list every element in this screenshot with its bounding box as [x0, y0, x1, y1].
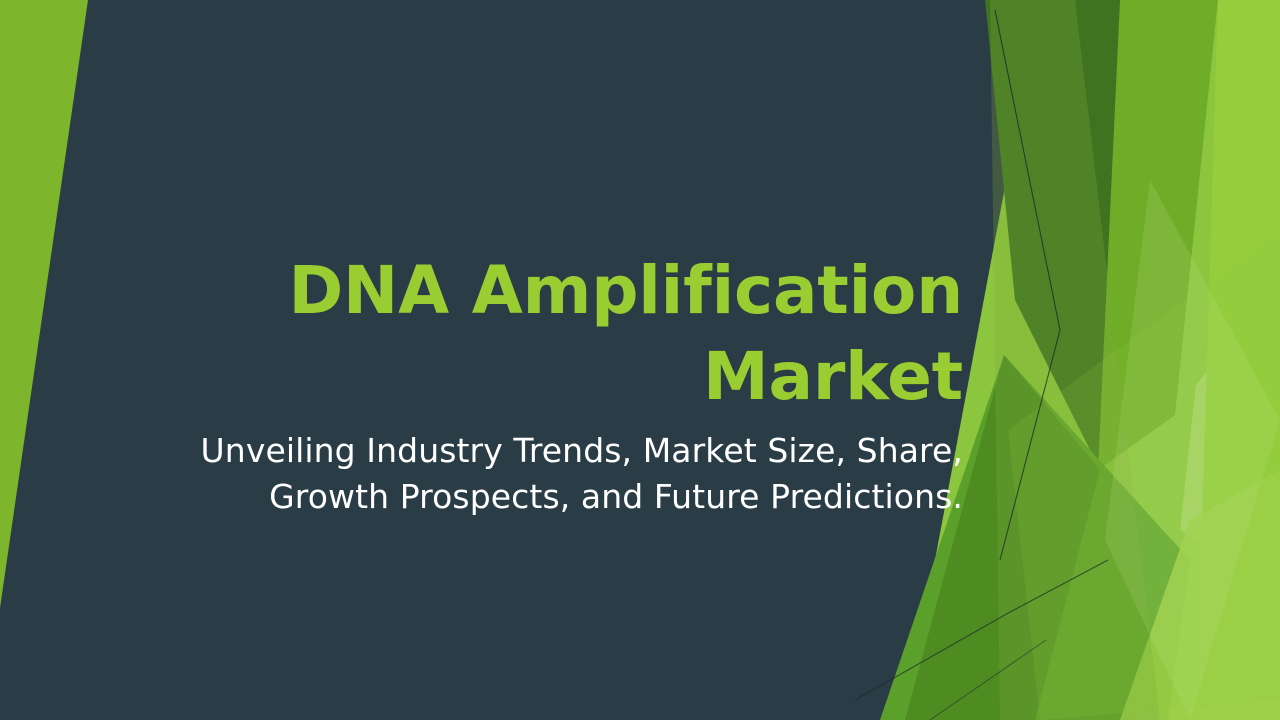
title-slide: DNA Amplification Market Unveiling Indus…	[0, 0, 1280, 720]
background-decoration	[0, 0, 1280, 720]
